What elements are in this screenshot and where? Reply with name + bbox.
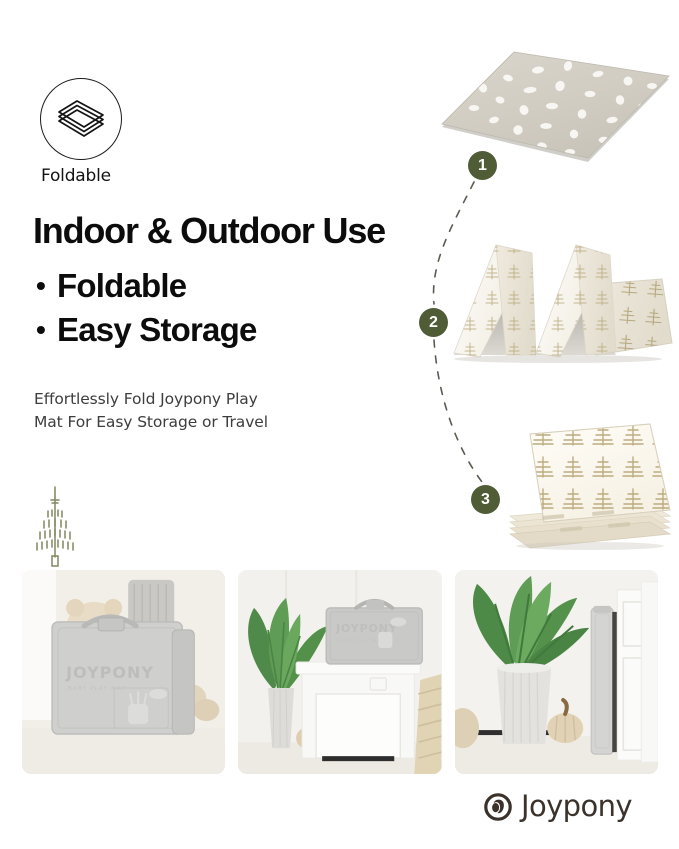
sketch-pine-tree-icon — [24, 483, 86, 569]
bullet-marker-icon: • — [36, 272, 45, 300]
brand-logo: Joypony — [484, 792, 632, 821]
svg-text:BABY PLAY MAT: BABY PLAY MAT — [337, 638, 385, 644]
step-badge-3: 3 — [471, 485, 500, 514]
list-item: • Foldable — [36, 264, 257, 308]
subtitle-line-1: Effortlessly Fold Joypony Play — [34, 388, 268, 411]
subtitle-line-2: Mat For Easy Storage or Travel — [34, 411, 268, 434]
subtitle: Effortlessly Fold Joypony Play Mat For E… — [34, 388, 268, 435]
svg-text:BABY PLAY MAT: BABY PLAY MAT — [68, 686, 126, 692]
step-badge-2: 2 — [419, 308, 448, 337]
photo-carry-bag-on-mantel: JOYPONY BABY PLAY MAT — [238, 570, 441, 774]
flat-play-mat-art — [438, 48, 670, 166]
foldable-icon-circle — [40, 78, 122, 160]
bullet-marker-icon: • — [36, 316, 45, 344]
bullet-text: Foldable — [57, 264, 186, 308]
joypony-circle-mark-icon — [484, 793, 512, 821]
brand-logo-text: Joypony — [521, 792, 632, 821]
page-title: Indoor & Outdoor Use — [33, 212, 385, 250]
folded-sheets-icon — [53, 95, 109, 143]
photo-gallery: JOYPONY BABY PLAY MAT — [22, 570, 658, 774]
infographic-page: Foldable Indoor & Outdoor Use • Foldable… — [0, 0, 679, 849]
svg-text:JOYPONY: JOYPONY — [65, 663, 154, 682]
accordion-folded-mat-art — [440, 233, 676, 363]
foldable-label: Foldable — [40, 166, 136, 186]
photo-2-illustration: JOYPONY BABY PLAY MAT — [238, 570, 441, 774]
photo-1-illustration: JOYPONY BABY PLAY MAT — [22, 570, 225, 774]
step-badge-1: 1 — [468, 151, 497, 180]
photo-carry-bag-beside-cabinet — [455, 570, 658, 774]
bullet-text: Easy Storage — [57, 308, 257, 352]
feature-bullet-list: • Foldable • Easy Storage — [36, 264, 257, 351]
folded-stack-art — [500, 420, 676, 550]
foldable-feature-badge: Foldable — [40, 78, 136, 186]
list-item: • Easy Storage — [36, 308, 257, 352]
photo-3-illustration — [455, 570, 658, 774]
photo-carry-bag-with-teddy-bear: JOYPONY BABY PLAY MAT — [22, 570, 225, 774]
